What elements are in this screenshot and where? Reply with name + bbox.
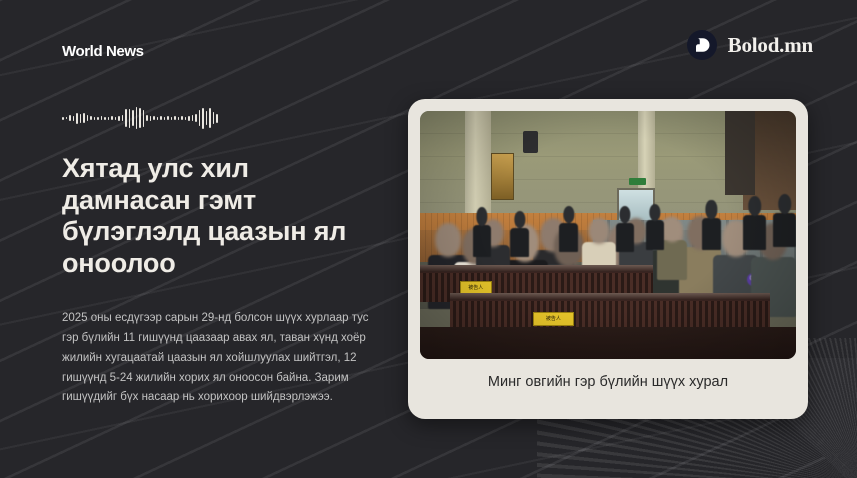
brand-logo[interactable]: Bolod.mn <box>687 30 813 60</box>
waveform-bar <box>143 110 145 127</box>
article-headline: Хятад улс хил дамнасан гэмт бүлэглэлд ца… <box>62 153 382 279</box>
waveform-bar <box>132 110 134 126</box>
waveform-bar <box>150 116 152 121</box>
waveform-bar <box>195 114 197 122</box>
waveform-bar <box>66 117 68 119</box>
waveform-bar <box>213 112 215 124</box>
waveform-bar <box>115 117 117 120</box>
brand-name: Bolod.mn <box>728 33 813 58</box>
waveform-bar <box>164 117 166 120</box>
waveform-bar <box>83 113 85 123</box>
waveform-bar <box>90 116 92 120</box>
photo-card: 01040704010101 被告人 被告人 Минг овгийн гэр б… <box>408 99 808 419</box>
waveform-bar <box>62 117 64 120</box>
waveform-bar <box>80 114 82 123</box>
waveform-bar <box>111 116 113 120</box>
waveform-bar <box>101 116 103 120</box>
waveform-bar <box>129 109 131 128</box>
waveform-bar <box>216 114 218 123</box>
waveform-bar <box>94 117 96 120</box>
waveform-bar <box>122 115 124 121</box>
waveform-bar <box>76 113 78 124</box>
waveform-bar <box>136 107 138 129</box>
waveform-bar <box>153 116 155 120</box>
waveform-bar <box>146 115 148 121</box>
waveform-bar <box>139 108 141 128</box>
waveform-bar <box>188 116 190 121</box>
waveform-bar <box>167 116 169 120</box>
waveform-bar <box>97 117 99 120</box>
waveform-bar <box>73 116 75 121</box>
waveform-bar <box>157 117 159 120</box>
waveform-bar <box>108 117 110 120</box>
bolod-d-mark-icon <box>687 30 717 60</box>
photo-caption: Минг овгийн гэр бүлийн шүүх хурал <box>420 374 796 391</box>
waveform-bar <box>209 108 211 128</box>
waveform-bar <box>87 115 89 121</box>
news-card-graphic: Bolod.mn World News Хятад улс хил дамнас… <box>0 0 857 478</box>
waveform-bar <box>104 117 106 120</box>
waveform-bar <box>199 110 201 126</box>
photo-vignette <box>420 111 796 359</box>
waveform-bar <box>160 116 162 120</box>
waveform-bar <box>185 117 187 120</box>
category-kicker: World News <box>62 44 392 59</box>
waveform-bar <box>202 108 204 129</box>
waveform-bar <box>69 115 71 121</box>
courtroom-trial-photo: 01040704010101 被告人 被告人 <box>420 111 796 359</box>
waveform-bar <box>125 109 127 127</box>
article-body: 2025 оны есдүгээр сарын 29-нд болсон шүү… <box>62 309 380 408</box>
article-text-column: World News Хятад улс хил дамнасан гэмт б… <box>62 44 392 408</box>
waveform-bar <box>181 116 183 120</box>
waveform-bar <box>174 116 176 120</box>
waveform-bar <box>192 115 194 121</box>
waveform-bar <box>171 117 173 120</box>
waveform-bar <box>118 116 120 121</box>
waveform-bar <box>178 117 180 120</box>
audio-waveform-icon[interactable] <box>62 105 392 131</box>
waveform-bar <box>206 111 208 125</box>
